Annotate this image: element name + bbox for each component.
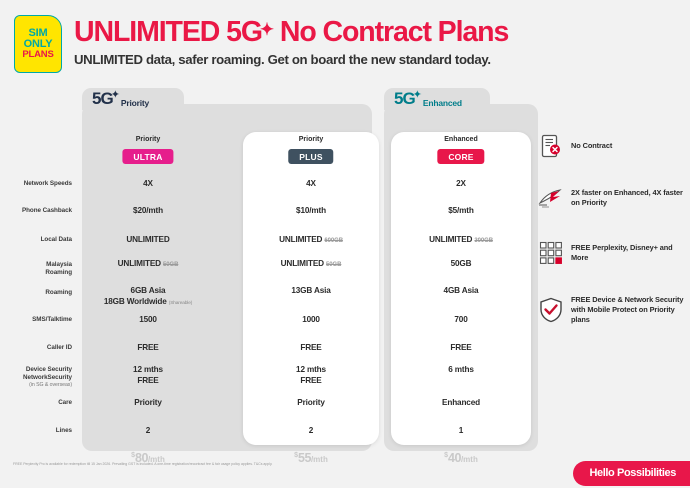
sparkle-icon: ✦ — [111, 88, 120, 101]
cell-ultra-9: 2 — [88, 425, 208, 436]
sim-only-plans-badge: SIM ONLY PLANS — [14, 15, 62, 73]
cell-plus-7: 12 mthsFREE — [248, 364, 374, 386]
disclaimer-text: FREE Perplexity Pro is available for red… — [13, 462, 433, 467]
cell-plus-2: UNLIMITED 600GB — [248, 234, 374, 245]
cell-ultra-4: 6GB Asia18GB Worldwide (Shareable) — [88, 285, 208, 308]
feature-item-2: FREE Perplexity, Disney+ and More — [538, 240, 688, 266]
no-contract-icon — [538, 133, 564, 159]
group-tab-priority-label: Priority — [121, 98, 149, 108]
brand-tagline: Hello Possibilities — [573, 461, 690, 486]
row-label-network-speeds: Network Speeds — [24, 180, 72, 188]
plan-badge-ultra[interactable]: ULTRA — [122, 149, 173, 164]
cell-core-8: Enhanced — [396, 397, 526, 408]
cell-plus-8: Priority — [248, 397, 374, 408]
feature-label-2: FREE Perplexity, Disney+ and More — [571, 243, 688, 263]
cell-plus-6: FREE — [248, 342, 374, 353]
badge-line-3: PLANS — [22, 50, 53, 60]
cell-core-4: 4GB Asia — [396, 285, 526, 296]
cell-ultra-3: UNLIMITED 50GB — [88, 258, 208, 269]
cell-plus-0: 4X — [248, 178, 374, 189]
feature-item-3: FREE Device & Network Security with Mobi… — [538, 295, 688, 325]
group-tab-enhanced-5g: 5G — [394, 89, 415, 109]
sparkle-icon: ✦ — [413, 88, 422, 101]
row-label-device-security-networksecurity: Device SecurityNetworkSecurity(in SG & o… — [23, 366, 72, 389]
row-label-roaming: Roaming — [45, 289, 72, 297]
cell-core-2: UNLIMITED 300GB — [396, 234, 526, 245]
cell-plus-5: 1000 — [248, 314, 374, 325]
feature-label-0: No Contract — [571, 141, 612, 151]
group-tab-enhanced[interactable]: 5G✦Enhanced — [384, 88, 490, 110]
plan-tier-core: Enhanced — [396, 136, 526, 143]
row-label-phone-cashback: Phone Cashback — [22, 207, 72, 215]
cell-ultra-7: 12 mthsFREE — [88, 364, 208, 386]
row-label-sms-talktime: SMS/Talktime — [32, 316, 72, 324]
cell-core-5: 700 — [396, 314, 526, 325]
feature-label-3: FREE Device & Network Security with Mobi… — [571, 295, 688, 325]
feature-item-1: 2X faster on Enhanced, 4X faster on Prio… — [538, 185, 688, 211]
cell-ultra-2: UNLIMITED — [88, 234, 208, 245]
page-title-part-2: No Contract Plans — [273, 16, 508, 48]
apps-grid-icon — [538, 240, 564, 266]
cell-core-3: 50GB — [396, 258, 526, 269]
group-tab-priority[interactable]: 5G✦Priority — [82, 88, 184, 110]
plan-badge-plus[interactable]: PLUS — [288, 149, 333, 164]
row-label-local-data: Local Data — [41, 236, 72, 244]
plan-tier-plus: Priority — [248, 136, 374, 143]
page-header: SIM ONLY PLANS UNLIMITED 5G✦ No Contract… — [0, 0, 690, 82]
feature-label-1: 2X faster on Enhanced, 4X faster on Prio… — [571, 188, 688, 208]
row-label-lines: Lines — [56, 427, 72, 435]
cell-core-1: $5/mth — [396, 205, 526, 216]
cell-core-9: 1 — [396, 425, 526, 436]
cell-ultra-8: Priority — [88, 397, 208, 408]
row-label-care: Care — [58, 399, 72, 407]
feature-item-0: No Contract — [538, 133, 688, 159]
page-title-part-1: UNLIMITED 5G — [74, 16, 262, 48]
page-subtitle: UNLIMITED data, safer roaming. Get on bo… — [74, 52, 491, 67]
cell-ultra-5: 1500 — [88, 314, 208, 325]
cell-plus-3: UNLIMITED 50GB — [248, 258, 374, 269]
speed-lightning-icon — [538, 185, 564, 211]
cell-ultra-1: $20/mth — [88, 205, 208, 216]
group-tab-enhanced-label: Enhanced — [423, 98, 462, 108]
cell-ultra-6: FREE — [88, 342, 208, 353]
plan-tier-ultra: Priority — [88, 136, 208, 143]
shield-check-icon — [538, 297, 564, 323]
plan-badge-core[interactable]: CORE — [437, 149, 484, 164]
cell-core-7: 6 mths — [396, 364, 526, 375]
row-label-malaysia-roaming: MalaysiaRoaming — [45, 261, 72, 277]
cell-plus-1: $10/mth — [248, 205, 374, 216]
cell-ultra-0: 4X — [88, 178, 208, 189]
cell-core-6: FREE — [396, 342, 526, 353]
page-title: UNLIMITED 5G✦ No Contract Plans — [74, 16, 508, 49]
group-tab-priority-5g: 5G — [92, 89, 113, 109]
cell-core-0: 2X — [396, 178, 526, 189]
cell-plus-9: 2 — [248, 425, 374, 436]
cell-plus-4: 13GB Asia — [248, 285, 374, 296]
row-label-caller-id: Caller ID — [47, 344, 72, 352]
sparkle-icon: ✦ — [260, 20, 273, 40]
